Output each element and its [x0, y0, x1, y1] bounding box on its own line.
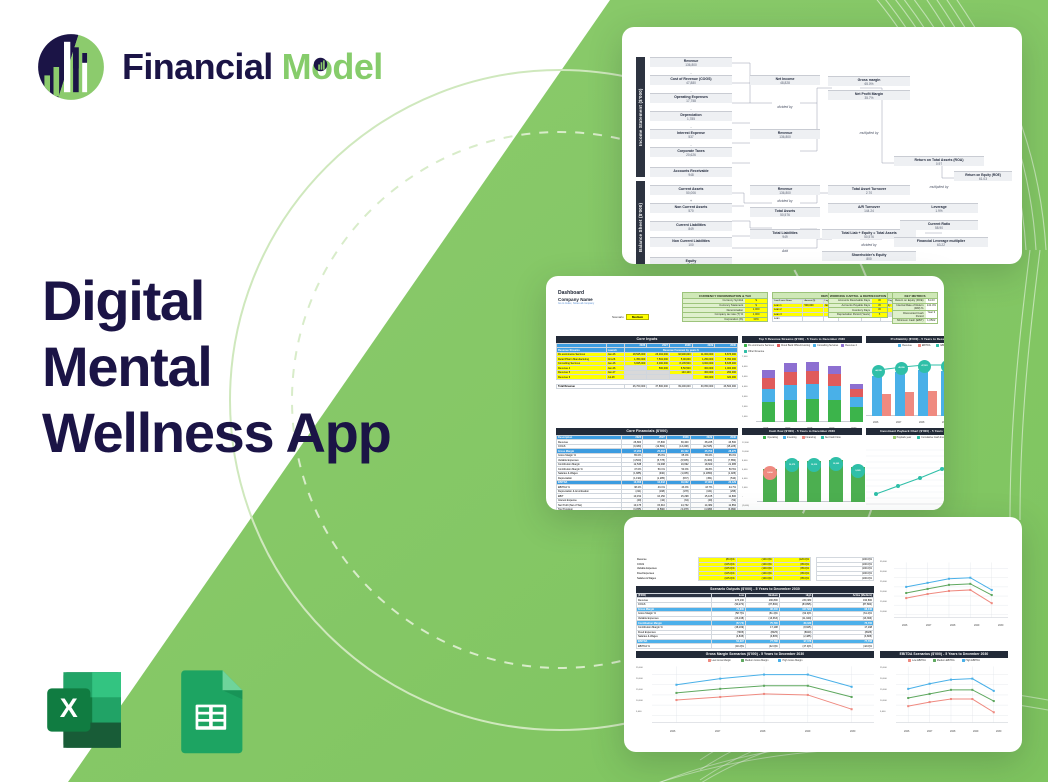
dupont-op-multiplied-by-1: multiplied by — [828, 131, 910, 135]
kpi-key: Internal Rate of Return (IRR) % — [893, 304, 926, 311]
screenshot-card-dashboard[interactable]: Dashboard Company Name Go to Index, Note… — [546, 276, 944, 510]
dupont-node-gross-margin: Gross margin 65.0% — [828, 76, 910, 86]
y-tick: 8,000 — [742, 460, 747, 462]
table-row: Tax Provision(3,055)(4,590)(4,478)(4,089… — [557, 507, 738, 510]
dupont-node-non-current-assets: Non Current Assets 570 — [650, 203, 732, 213]
kpi-value: 61.03 — [926, 299, 937, 303]
y-tick: 15,000 — [636, 689, 643, 691]
brand-name-model-text: Model — [282, 46, 383, 87]
y-tick: 30,000 — [880, 571, 887, 573]
dupont-node-depreciation: Depreciation 1,785 — [650, 111, 732, 121]
legend-label: Cloud Back Office/Invoicing — [781, 344, 810, 347]
stacked-bar — [784, 363, 797, 422]
table-row: EBITDA %(40.2)%(42.0)%(47.0)%(42.0)% — [637, 644, 874, 649]
legend-label: Financing — [806, 436, 816, 439]
ci-total: 37,800,000 — [647, 384, 670, 389]
x-tick: 2029 — [973, 730, 978, 733]
table-row: Salaries & Wages(105.0)%(100.0)%(95.0)% — [636, 576, 811, 581]
asm-label: Salaries & Wages — [636, 576, 699, 581]
y-tick: 2,000 — [742, 406, 747, 408]
currency-row-key: Corporation (%) — [683, 318, 745, 322]
y-tick: 3,000 — [742, 396, 747, 398]
currency-row-value[interactable]: $ — [745, 304, 767, 308]
core-financials-title: Core Financials ($'000) — [556, 428, 738, 435]
scenario-assumptions-table: Revenue(80.0)%(100.0)%(120.0)%COGS(105.0… — [636, 557, 811, 581]
dupont-node-shareholders-equity: Shareholder's Equity 800 — [822, 251, 916, 261]
x-tick: 2028 — [760, 730, 765, 733]
y-tick: 35,000 — [880, 561, 887, 563]
x-tick: 2029 — [942, 421, 944, 424]
dupont-node-leverage: Leverage 1.9% — [900, 203, 978, 213]
legend-label: High Gross Margin — [782, 659, 802, 662]
revenue-streams-chart: Top 5 Revenue Streams ($'000) - 5 Years … — [742, 336, 862, 430]
y-tick: 5,000 — [636, 711, 641, 713]
y-tick: 7,000 — [742, 356, 747, 358]
y-tick: 15,000 — [880, 689, 887, 691]
out-cell: (42.0)% — [745, 644, 779, 649]
ebitda-plot — [896, 663, 1008, 733]
legend-label: High EBITDA — [966, 659, 980, 662]
ci-total: 39,400,000 — [669, 384, 692, 389]
scenario-analysis-sheet: Revenue(80.0)%(100.0)%(120.0)%COGS(105.0… — [634, 529, 1012, 744]
legend-label: Revenue — [902, 344, 912, 347]
y-tick: - — [742, 496, 743, 498]
google-sheets-icon — [165, 665, 255, 755]
model-o-chart-glyph-icon — [313, 57, 328, 72]
currency-row-key: Currency Statement — [683, 304, 745, 308]
revenue-bar — [918, 370, 928, 416]
revenue-streams-title: Top 5 Revenue Streams ($'000) - 5 Years … — [742, 336, 862, 343]
currency-row-value[interactable]: $ — [745, 299, 767, 303]
ci-total: 30,050,000 — [692, 384, 715, 389]
wc-key: Inventory Days — [829, 308, 872, 312]
ci-total-label: Total Revenue — [557, 384, 625, 389]
debt-cell[interactable] — [803, 317, 823, 322]
revenue-bar — [895, 372, 905, 416]
wc-key: Accounts Receivable Days — [829, 299, 872, 303]
x-tick: 2028 — [919, 421, 924, 424]
cf-label: Tax Provision — [557, 507, 622, 510]
currency-row-key: Currency Symbol — [683, 299, 745, 303]
legend-label: Operating — [767, 436, 778, 439]
profitability-chart: Profitability ($'000) - 5 Years to Decem… — [866, 336, 944, 424]
core-inputs-title: Core Inputs — [556, 336, 738, 343]
dupont-node-corporate-taxes: Corporate Taxes 20,626 — [650, 147, 732, 157]
kpi-value: Year 3 — [926, 311, 937, 318]
svg-text:X: X — [60, 693, 78, 723]
ebitda-scenarios-chart: EBITDA Scenarios ($'000) - 5 Years to De… — [880, 651, 1008, 733]
legend-label: EBITDA % — [940, 344, 944, 347]
dupont-analysis-sheet: Income Statement ($'000) Balance Sheet (… — [632, 43, 1012, 254]
legend-label: Medium EBITDA — [937, 659, 955, 662]
out-cell: (42.0)% — [813, 644, 874, 649]
x-tick: 2026 — [902, 624, 907, 627]
revenue-scenarios-plot — [894, 559, 1008, 627]
scenario-value[interactable]: Medium — [626, 314, 649, 320]
financial-model-circle-logo-icon — [36, 32, 106, 102]
y-tick: 10,000 — [880, 700, 887, 702]
y-tick: 10,000 — [880, 611, 887, 613]
out-label: EBITDA % — [637, 644, 712, 649]
debt-cell[interactable]: Loan — [773, 317, 803, 322]
payback-line — [866, 440, 944, 510]
wc-key: Depreciation Period (Years) — [829, 313, 872, 317]
asm-med[interactable]: (100.0)% — [736, 576, 773, 581]
ebitda-bar — [882, 394, 891, 416]
legend-label: Net Cash Flow — [825, 436, 841, 439]
kpi-value: 1,0502 — [926, 319, 937, 323]
working-capital-group: WORKING CAPITAL & DEPRECIATION Accounts … — [828, 292, 888, 318]
file-format-icons: X — [40, 665, 255, 755]
dashboard-note: Go to Index, Notes all company — [558, 302, 594, 305]
cf-cell: (4,478) — [666, 507, 690, 510]
dashboard-sheet: Dashboard Company Name Go to Index, Note… — [554, 288, 936, 502]
core-inputs-panel: Core Inputs 2026 2027 2028 2029 2030 Rev… — [556, 336, 738, 389]
dupont-op-multiplied-by-2: multiplied by — [894, 185, 984, 189]
kpi-key: Return on Equity (ROE) — [893, 299, 926, 303]
stacked-bar — [828, 366, 841, 422]
dupont-node-accounts-receivable: Accounts Receivable 948 — [650, 167, 732, 177]
y-tick: 20,000 — [880, 591, 887, 593]
x-tick: 2027 — [896, 421, 901, 424]
y-tick: 10,000 — [742, 451, 749, 453]
table-row: (100.0)% — [817, 576, 874, 581]
data-bubble: 47,501 — [918, 360, 931, 373]
dupont-node-revenue-2: Revenue 136,800 — [750, 129, 820, 139]
x-tick: 2026 — [670, 730, 675, 733]
x-tick: 2029 — [974, 624, 979, 627]
gross-margin-scenarios-chart: Gross Margin Scenarios ($'000) - 5 Years… — [636, 651, 874, 733]
ebitda-bar — [928, 391, 937, 416]
y-tick: 2,000 — [742, 487, 747, 489]
payback-chart: Investment Payback Chart ($'000) - 5 Yea… — [866, 428, 944, 510]
key-metrics-group: KEY METRICS Return on Equity (ROE)61.03 … — [892, 292, 938, 324]
currency-row-value[interactable]: 1,000 — [745, 313, 767, 317]
dupont-node-non-current-liabilities: Non Current Liabilities 100 — [650, 237, 732, 247]
dupont-node-current-liabilities: Current Liabilities 849 — [650, 221, 732, 231]
kpi-key: Discounted Cash Period — [893, 311, 926, 318]
dashboard-title: Dashboard — [558, 290, 584, 296]
y-tick: 10,000 — [636, 700, 643, 702]
data-bubble: 45,200 — [895, 362, 908, 375]
dupont-node-cogs: Cost of Revenue (COGS) 47,880 — [650, 75, 732, 85]
stacked-bar — [762, 370, 775, 422]
microsoft-excel-icon: X — [40, 665, 130, 755]
dupont-node-current-ratio: Current Ratio 58.90 — [900, 220, 978, 230]
x-tick: 2026 — [873, 421, 878, 424]
screenshot-card-dupont[interactable]: Income Statement ($'000) Balance Sheet (… — [622, 27, 1022, 264]
ci-total: 43,500,000 — [715, 384, 738, 389]
gm-plot — [652, 663, 874, 733]
y-tick: 15,000 — [880, 601, 887, 603]
wc-value[interactable]: 30 — [872, 308, 887, 312]
dupont-node-financial-leverage-multiplier: Financial Leverage multiplier 63.22 — [894, 237, 988, 247]
x-tick: 2029 — [805, 730, 810, 733]
cf-cell: (4,590) — [643, 507, 667, 510]
wc-value[interactable]: 30 — [872, 299, 887, 303]
dupont-node-revenue-3: Revenue 136,800 — [750, 185, 820, 195]
data-bubble: 10,275 — [785, 458, 799, 472]
x-tick: 2028 — [950, 730, 955, 733]
kpi-value: 141.4% — [926, 304, 937, 311]
ebitda-bar — [905, 392, 914, 416]
ebitda-chart-title: EBITDA Scenarios ($'000) - 5 Years to De… — [880, 651, 1008, 658]
brand-name-model: Model — [282, 46, 383, 88]
page-title: Digital Mental Wellness App — [42, 268, 390, 466]
data-bubble: 10,505 — [829, 457, 843, 471]
dupont-op-divided-by-2: divided by — [750, 199, 820, 203]
legend-label: EBITDA — [922, 344, 931, 347]
cf-cell: (3,990) — [714, 507, 738, 510]
x-tick: 2027 — [715, 730, 720, 733]
dupont-node-roe: Return on Equity (ROE) 61.03 — [954, 171, 1012, 181]
revenue-streams-legend: Rx ecommerce Services Cloud Back Office/… — [742, 343, 862, 354]
y-tick: 4,000 — [742, 386, 747, 388]
legend-label: Medium Gross Margin — [745, 659, 769, 662]
data-bubble: 9,020 — [851, 464, 865, 478]
stacked-bar — [850, 384, 863, 422]
y-tick: 12,000 — [742, 442, 749, 444]
legend-label: Low EBITDA — [912, 659, 926, 662]
slide-canvas: Financial Model Digital Mental Wellness … — [0, 0, 1048, 782]
revenue-bar — [872, 376, 882, 416]
x-tick: 2027 — [926, 624, 931, 627]
out-cell: (47.0)% — [779, 644, 812, 649]
legend-label: Revenue 4 — [845, 344, 857, 347]
brand-logo: Financial Model — [36, 32, 383, 102]
page-title-line-3: Wellness App — [42, 400, 390, 466]
out-cell: (40.2)% — [712, 644, 745, 649]
dupont-node-interest-expense: Interest Expense 537 — [650, 129, 732, 139]
wc-value[interactable]: 30 — [872, 304, 887, 308]
dupont-op-divided-by-1: divided by — [750, 105, 820, 109]
currency-row-value[interactable]: 30% — [745, 318, 767, 322]
x-tick: 2027 — [927, 730, 932, 733]
dupont-op-add: Add — [750, 249, 820, 253]
page-title-line-1: Digital — [42, 268, 390, 334]
cf-cell: (3,055) — [622, 507, 643, 510]
y-tick: 6,000 — [742, 366, 747, 368]
cash-flow-chart: Cash flow ($'000) - 5 Years to December … — [742, 428, 862, 510]
data-bubble: 44,338 — [872, 365, 885, 378]
legend-label: Low Gross Margin — [712, 659, 731, 662]
y-tick: 5,000 — [880, 711, 885, 713]
data-bubble: 10,210 — [807, 458, 821, 472]
x-tick: 2030 — [996, 730, 1001, 733]
ci-total: 26,700,000 — [624, 384, 647, 389]
y-tick: 20,000 — [636, 678, 643, 680]
wc-value[interactable]: 5 — [872, 313, 887, 317]
y-tick: 25,000 — [880, 667, 887, 669]
wc-key: Accounts Payable Days — [829, 304, 872, 308]
kpi-key: Minimum Cash (EBIT) — [893, 319, 926, 323]
legend-label: Investing — [787, 436, 797, 439]
payback-title: Investment Payback Chart ($'000) - 5 Yea… — [866, 428, 944, 435]
cash-flow-title: Cash flow ($'000) - 5 Years to December … — [742, 428, 862, 435]
currency-row-key: Denomination — [683, 308, 745, 312]
dupont-node-total-liabilities: Total Liabilities 949 — [750, 229, 820, 239]
currency-row-key: Company tax rate (T) % — [683, 313, 745, 317]
currency-denomination-group: CURRENCY DENOMINATION & TAX Currency Sym… — [682, 292, 768, 322]
scenario-active-column: (100.0)%(100.0)%(100.0)%(100.0)%(100.0)% — [816, 557, 874, 581]
scenario-outputs-panel: Scenario Outputs ($'000) - 5 Years to De… — [636, 586, 874, 649]
asm-active: (100.0)% — [817, 576, 874, 581]
x-tick: 2028 — [950, 624, 955, 627]
currency-row-value[interactable]: 1,000 — [745, 308, 767, 312]
stacked-bar — [806, 362, 819, 422]
y-tick: 4,000 — [742, 478, 747, 480]
dupont-band-income-statement: Income Statement ($'000) — [636, 57, 645, 177]
dupont-node-current-assets: Current Assets 50,006 — [650, 185, 732, 195]
y-tick: (2,000) — [742, 505, 749, 507]
x-tick: 2030 — [850, 730, 855, 733]
brand-wordmark: Financial Model — [122, 46, 383, 88]
y-tick: 25,000 — [880, 581, 887, 583]
dupont-node-ar-turnover: A/R Turnover 144.24 — [828, 203, 910, 213]
legend-label: Other Revenue — [748, 350, 764, 353]
revenue-bar — [941, 371, 944, 416]
page-title-line-2: Mental — [42, 334, 390, 400]
table-row: Total Revenue 26,700,000 37,800,000 39,4… — [557, 384, 738, 389]
y-tick: 6,000 — [742, 469, 747, 471]
core-financials-panel: Core Financials ($'000) Description20262… — [556, 428, 738, 510]
cf-cell: (4,089) — [690, 507, 714, 510]
y-tick: 1,000 — [742, 416, 747, 418]
dupont-node-net-income: Net Income 48,828 — [750, 75, 820, 85]
y-tick: 20,000 — [880, 678, 887, 680]
x-tick: 2026 — [904, 730, 909, 733]
legend-label: Cumulative Cash Invested (Years) — [921, 436, 944, 439]
x-tick: 2030 — [998, 624, 1003, 627]
dupont-band-balance-sheet: Balance Sheet ($'000) — [636, 181, 645, 264]
gm-chart-title: Gross Margin Scenarios ($'000) - 5 Years… — [636, 651, 874, 658]
scenario-label: Scenario — [612, 315, 624, 319]
scenario-selector[interactable]: Scenario Medium — [612, 314, 649, 320]
dupont-node-equity: Equity 49,628 — [650, 257, 732, 264]
screenshot-card-scenarios[interactable]: Revenue(80.0)%(100.0)%(120.0)%COGS(105.0… — [624, 517, 1022, 752]
legend-label: Rx ecommerce Services — [748, 344, 774, 347]
y-tick: 25,000 — [636, 667, 643, 669]
dupont-node-opex: Operating Expenses 17,758 — [650, 93, 732, 103]
y-tick: 5,000 — [742, 376, 747, 378]
legend-label: Payback year — [897, 436, 911, 439]
data-bubble: 8,404 — [763, 466, 777, 480]
legend-label: Consulting Services — [817, 344, 838, 347]
dupont-node-net-profit-margin: Net Profit Margin 35.7% — [828, 90, 910, 100]
core-financials-table: Description20262027202820292030Revenue26… — [556, 435, 738, 510]
dupont-node-total-assets: Total Assets 50,576 — [750, 207, 820, 217]
asm-high[interactable]: (95.0)% — [773, 576, 810, 581]
dupont-node-revenue: Revenue 136,800 — [650, 57, 732, 67]
profitability-title: Profitability ($'000) - 5 Years to Decem… — [866, 336, 944, 343]
dashboard-heading: Dashboard Company Name Go to Index, Note… — [558, 290, 594, 306]
asm-low[interactable]: (105.0)% — [699, 576, 736, 581]
dupont-node-roa: Return on Total Assets (ROA) 0.97 — [894, 156, 984, 166]
brand-name-financial: Financial — [122, 46, 273, 88]
scenario-outputs-title: Scenario Outputs ($'000) - 5 Years to De… — [636, 586, 874, 593]
revenue-scenarios-chart: 35,000 30,000 25,000 20,000 15,000 10,00… — [880, 559, 1008, 627]
